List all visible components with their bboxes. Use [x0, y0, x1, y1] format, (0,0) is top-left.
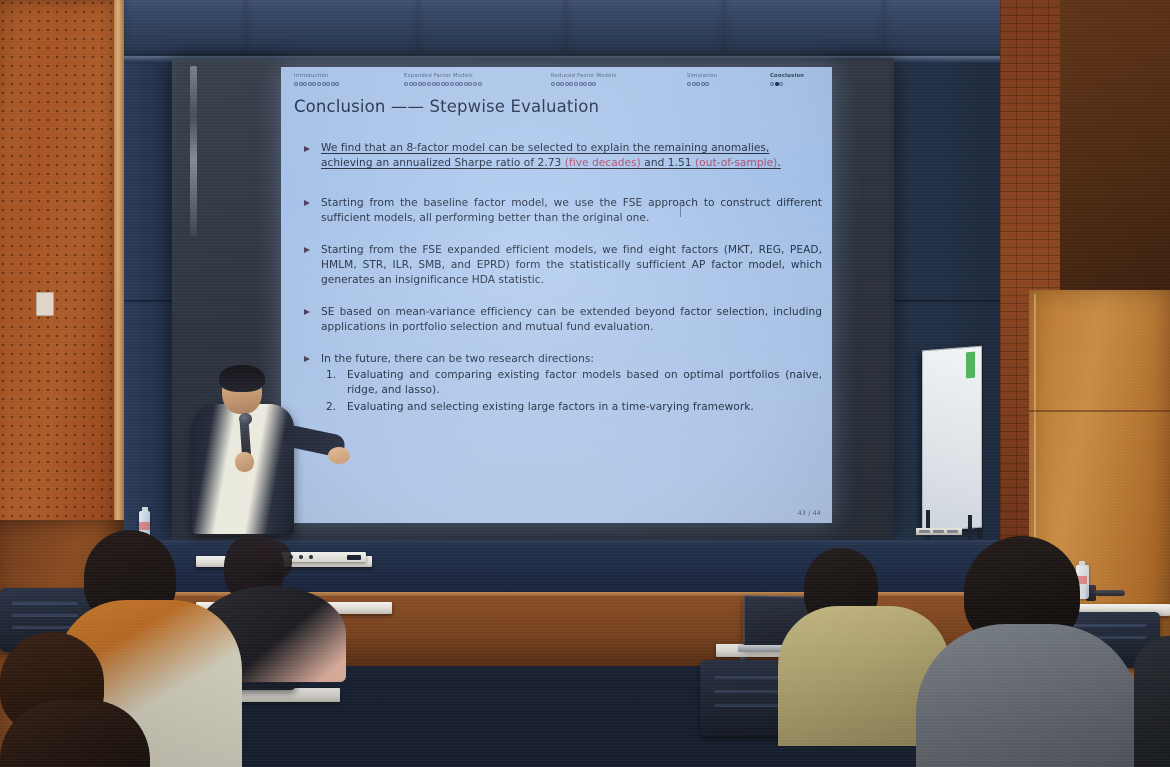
wall-pad	[724, 0, 885, 58]
bullet-1-line-1: We find that an 8-factor model can be se…	[321, 141, 822, 156]
bullet-item-4: SE based on mean-variance efficiency can…	[294, 305, 822, 336]
enumerated-index: 2.	[326, 400, 336, 415]
chair-slot	[12, 614, 78, 617]
nav-section-expanded-factor-models[interactable]: Expanded Factor Models	[404, 73, 482, 86]
nav-dot[interactable]	[455, 82, 459, 86]
projected-slide: Introduction Expanded Factor Models Redu…	[281, 67, 832, 523]
nav-dot[interactable]	[775, 82, 779, 86]
wall-switch-plate	[36, 292, 54, 316]
nav-section-label: Conclusion	[770, 73, 804, 80]
nav-dot[interactable]	[422, 82, 426, 86]
nav-dot[interactable]	[427, 82, 431, 86]
bullet-1-seg-a: achieving an annualized Sharpe ratio of …	[321, 157, 565, 169]
bullet-item-1: We find that an 8-factor model can be se…	[294, 141, 822, 172]
nav-dot[interactable]	[560, 82, 564, 86]
nav-dot[interactable]	[583, 82, 587, 86]
wall-pad	[418, 0, 567, 58]
triangle-bullet-icon	[304, 247, 310, 253]
nav-dot[interactable]	[478, 82, 482, 86]
nav-dot[interactable]	[335, 82, 339, 86]
nav-dot[interactable]	[445, 82, 449, 86]
wall-panel-left	[124, 63, 172, 560]
bullet-3-text: Starting from the FSE expanded efficient…	[321, 243, 822, 289]
panel-trim	[114, 0, 124, 560]
nav-section-label: Expanded Factor Models	[404, 73, 482, 80]
nav-section-label: Simulation	[687, 73, 717, 80]
nav-dot[interactable]	[308, 82, 312, 86]
triangle-bullet-icon	[304, 309, 310, 315]
presenter-hair	[219, 365, 265, 392]
nav-dots-simulation	[687, 82, 717, 86]
desk-control-console[interactable]	[280, 552, 366, 562]
nav-dot[interactable]	[331, 82, 335, 86]
bullet-1-seg-b: and 1.51	[641, 157, 695, 169]
nav-dot[interactable]	[459, 82, 463, 86]
audience-torso	[1134, 636, 1170, 767]
bullet-4-text: SE based on mean-variance efficiency can…	[321, 305, 822, 336]
screenshot-root: Introduction Expanded Factor Models Redu…	[0, 0, 1170, 767]
nav-dots-reduced-factor-models	[551, 82, 616, 86]
bullet-item-5: In the future, there can be two research…	[294, 352, 822, 416]
nav-dot[interactable]	[574, 82, 578, 86]
bullet-1-line-2: achieving an annualized Sharpe ratio of …	[321, 156, 822, 171]
presenter-left-hand	[235, 452, 254, 472]
nav-dot[interactable]	[692, 82, 696, 86]
wood-panel-right-upper	[1060, 0, 1170, 300]
bullet-1-highlight-five-decades: (five decades)	[565, 157, 641, 169]
nav-section-simulation[interactable]: Simulation	[687, 73, 717, 86]
enumerated-index: 1.	[326, 368, 336, 383]
bottle-cap	[142, 507, 148, 512]
chair-slot	[1072, 624, 1146, 627]
bullet-item-3: Starting from the FSE expanded efficient…	[294, 243, 822, 289]
wall-pad	[124, 0, 247, 58]
enumerated-text: Evaluating and selecting existing large …	[347, 400, 822, 415]
bullet-1-seg-c: .	[777, 157, 780, 169]
nav-dot[interactable]	[409, 82, 413, 86]
nav-dot[interactable]	[464, 82, 468, 86]
nav-dots-expanded-factor-models	[404, 82, 482, 86]
nav-dot[interactable]	[569, 82, 573, 86]
nav-dot[interactable]	[770, 82, 774, 86]
whiteboard-green-tab	[966, 352, 975, 379]
lecture-room: Introduction Expanded Factor Models Redu…	[0, 0, 1170, 767]
nav-dot[interactable]	[592, 82, 596, 86]
door-panel-line	[1029, 410, 1170, 412]
nav-dot[interactable]	[432, 82, 436, 86]
nav-dot[interactable]	[551, 82, 555, 86]
door-handle[interactable]	[1095, 590, 1125, 596]
nav-dot[interactable]	[579, 82, 583, 86]
wall-seam	[124, 300, 172, 302]
nav-dot[interactable]	[687, 82, 691, 86]
nav-dot[interactable]	[317, 82, 321, 86]
nav-dots-introduction	[294, 82, 339, 86]
nav-section-reduced-factor-models[interactable]: Reduced Factor Models	[551, 73, 616, 86]
nav-dot[interactable]	[303, 82, 307, 86]
nav-dot[interactable]	[468, 82, 472, 86]
marker-pen	[947, 530, 958, 533]
microphone-head-icon	[239, 413, 252, 425]
bottle-cap	[1079, 561, 1085, 566]
triangle-bullet-icon	[304, 200, 310, 206]
wall-pad	[246, 0, 419, 58]
nav-dot[interactable]	[588, 82, 592, 86]
bottle-label	[139, 522, 150, 530]
nav-dot[interactable]	[294, 82, 298, 86]
presenter-right-hand	[328, 447, 350, 464]
bullet-5-text: In the future, there can be two research…	[321, 352, 822, 367]
triangle-bullet-icon	[304, 356, 310, 362]
slide-body: We find that an 8-factor model can be se…	[294, 141, 822, 428]
nav-dot[interactable]	[436, 82, 440, 86]
enumerated-text: Evaluating and comparing existing factor…	[347, 368, 822, 399]
chair-slot	[12, 602, 78, 605]
audience-torso	[916, 624, 1140, 767]
nav-dot[interactable]	[404, 82, 408, 86]
audience-head	[252, 540, 292, 580]
nav-dot[interactable]	[705, 82, 709, 86]
nav-dots-conclusion	[770, 82, 804, 86]
nav-dot[interactable]	[326, 82, 330, 86]
beamer-navigation-bar: Introduction Expanded Factor Models Redu…	[281, 67, 832, 91]
nav-dot[interactable]	[418, 82, 422, 86]
screen-roller-hinge	[190, 66, 197, 236]
nav-dot[interactable]	[556, 82, 560, 86]
bullet-2-text: Starting from the baseline factor model,…	[321, 196, 822, 227]
console-display	[347, 555, 361, 560]
console-knob[interactable]	[309, 555, 313, 559]
nav-dot[interactable]	[413, 82, 417, 86]
nav-dot[interactable]	[473, 82, 477, 86]
mouse-text-cursor	[680, 202, 681, 217]
slide-page-number: 43 / 44	[798, 510, 821, 517]
slide-title: Conclusion —— Stepwise Evaluation	[294, 97, 599, 116]
nav-section-label: Reduced Factor Models	[551, 73, 616, 80]
marker-pen	[919, 530, 930, 533]
nav-section-label: Introduction	[294, 73, 339, 80]
bullet-1-highlight-out-of-sample: (out-of-sample)	[695, 157, 777, 169]
triangle-bullet-icon	[304, 146, 310, 152]
nav-dot[interactable]	[322, 82, 326, 86]
nav-dot[interactable]	[565, 82, 569, 86]
bullet-item-2: Starting from the baseline factor model,…	[294, 196, 822, 227]
nav-dot[interactable]	[450, 82, 454, 86]
acoustic-wood-panel-left	[0, 0, 124, 560]
enumerated-item-2: 2. Evaluating and selecting existing lar…	[321, 400, 822, 415]
nav-dot[interactable]	[701, 82, 705, 86]
whiteboard-marker-tray	[916, 528, 962, 535]
console-knob[interactable]	[299, 555, 303, 559]
enumerated-item-1: 1. Evaluating and comparing existing fac…	[321, 368, 822, 399]
marker-pen	[933, 530, 944, 533]
nav-section-conclusion[interactable]: Conclusion	[770, 73, 804, 86]
nav-dot[interactable]	[696, 82, 700, 86]
wall-pad	[566, 0, 725, 58]
nav-dot[interactable]	[299, 82, 303, 86]
nav-section-introduction[interactable]: Introduction	[294, 73, 339, 86]
nav-dot[interactable]	[779, 82, 783, 86]
nav-dot[interactable]	[441, 82, 445, 86]
nav-dot[interactable]	[312, 82, 316, 86]
